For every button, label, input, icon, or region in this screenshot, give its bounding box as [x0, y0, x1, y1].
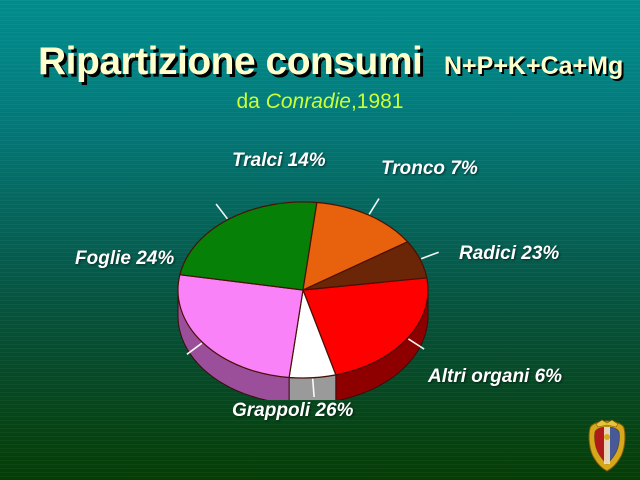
pie-slice-foglie[interactable]	[180, 202, 317, 290]
subtitle-citation: da Conradie,1981	[0, 90, 640, 114]
coat-of-arms-icon	[582, 418, 632, 474]
leader-line-tralci	[369, 199, 379, 215]
pie-top-face	[178, 202, 428, 378]
presentation-slide: Ripartizione consumi N+P+K+Ca+Mg da Conr…	[0, 0, 640, 480]
subtitle-source-name: Conradie	[266, 90, 351, 113]
title-nutrients-suffix: N+P+K+Ca+Mg	[444, 52, 623, 81]
subtitle-year: ,1981	[351, 90, 404, 113]
leader-line-tronco	[421, 252, 439, 259]
pie-label-foglie: Foglie 24%	[75, 248, 174, 270]
pie-chart	[150, 140, 570, 400]
leader-line-foglie	[216, 204, 227, 219]
pie-label-tralci: Tralci 14%	[232, 150, 326, 172]
pie-label-radici: Radici 23%	[459, 243, 559, 265]
pie-label-altri-organi: Altri organi 6%	[428, 366, 562, 388]
pie-label-grappoli: Grappoli 26%	[232, 400, 353, 422]
pie-label-tronco: Tronco 7%	[381, 158, 478, 180]
subtitle-prefix: da	[237, 90, 266, 113]
page-title: Ripartizione consumi	[38, 40, 422, 84]
pie-chart-svg	[150, 140, 570, 400]
